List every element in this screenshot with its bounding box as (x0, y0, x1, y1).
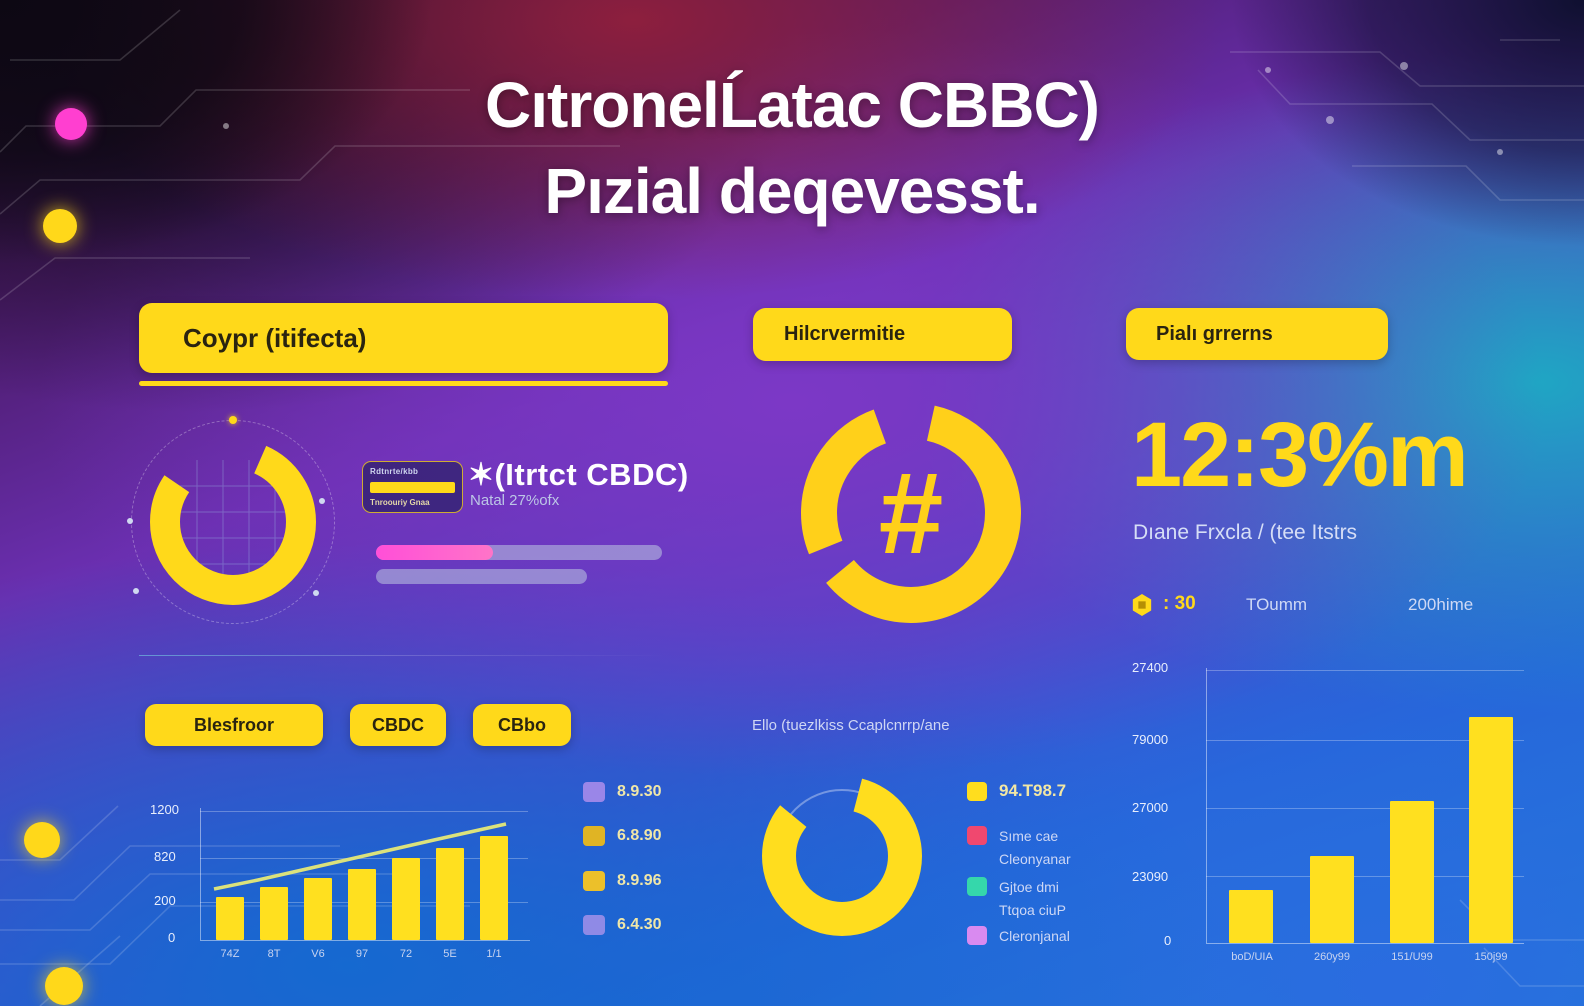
legend-label: 6.4.30 (617, 916, 661, 934)
legend-swatch (967, 926, 987, 945)
left-chart-legend-item[interactable]: 8.9.96 (583, 871, 661, 891)
page-title: CıtronelĹatac CBBC) Pızial deqevesst. (0, 62, 1584, 234)
right-chart-bar[interactable] (1229, 890, 1273, 943)
right-panel-metric-label-2: 200hime (1408, 595, 1473, 615)
tab-hilcrvermitie[interactable]: Hilcrvermitie (753, 308, 1012, 361)
mini-card-top-text: Rdtnrte/kbb (370, 467, 455, 476)
hash-icon: # (790, 392, 1032, 634)
hexagon-icon (1131, 593, 1153, 617)
right-panel-sub-label: Dıane Frxcla / (tee Itstrs (1133, 521, 1357, 545)
right-chart-xtick: boD/UIA (1219, 951, 1285, 963)
right-chart-ytick-0: 27400 (1132, 660, 1168, 675)
left-chart-legend-item[interactable]: 6.4.30 (583, 915, 661, 935)
left-chart-legend-item[interactable]: 8.9.30 (583, 782, 661, 802)
right-chart-x-axis (1206, 943, 1524, 944)
right-chart-xtick: 150j99 (1458, 951, 1524, 963)
right-chart-bar[interactable] (1310, 856, 1354, 943)
left-chart-ytick-1: 820 (154, 849, 176, 864)
accent-dot-yellow-bottom-b (45, 967, 83, 1005)
legend-label: 8.9.30 (617, 783, 661, 801)
right-chart-xtick: 260y99 (1299, 951, 1365, 963)
accent-dot-yellow-bottom-a (24, 822, 60, 858)
tab-active-underline (139, 381, 668, 386)
left-mini-card[interactable]: Rdtnrte/kbb Tnroouriy Gnaa (362, 461, 463, 513)
orbit-node-left (127, 518, 133, 524)
left-chart-gridline-1 (200, 811, 528, 812)
page-title-line-1: CıtronelĹatac CBBC) (0, 62, 1584, 148)
progress-bar-1-fill (376, 545, 493, 560)
left-chart-xtick: 74Z (208, 948, 252, 960)
left-chart-xtick: 5E (428, 948, 472, 960)
legend-swatch (967, 782, 987, 801)
left-bar-chart[interactable]: 1200 820 200 0 74Z 8T V6 97 72 5E 1/1 (150, 782, 550, 962)
legend-swatch (583, 915, 605, 935)
progress-bar-2[interactable] (376, 569, 587, 584)
left-chart-xtick: 1/1 (472, 948, 516, 960)
left-chart-xtick: 8T (252, 948, 296, 960)
right-chart-y-axis (1206, 668, 1207, 943)
legend-swatch (583, 826, 605, 846)
legend-label: 94.T98.7 (999, 781, 1066, 801)
left-ring-segment (165, 454, 301, 590)
right-panel-big-stat: 12:3%m (1131, 409, 1467, 501)
left-chart-xtick: 97 (340, 948, 384, 960)
middle-legend-item-primary[interactable]: 94.T98.7 (967, 781, 1066, 801)
middle-legend-sublabel: Ttqoa ciuP (999, 902, 1066, 918)
right-chart-ytick-4: 0 (1164, 933, 1171, 948)
right-chart-ytick-1: 79000 (1132, 732, 1168, 747)
right-panel-metric-value: : 30 (1163, 593, 1196, 615)
button-blesfroor[interactable]: Blesfroor (145, 704, 323, 746)
middle-legend-sublabel: Cleonyanar (999, 851, 1071, 867)
orbit-node-bottom-left (133, 588, 139, 594)
left-chart-bar[interactable] (260, 887, 288, 940)
left-chart-bar[interactable] (392, 858, 420, 940)
left-chart-xtick: V6 (296, 948, 340, 960)
left-chart-bar[interactable] (348, 869, 376, 940)
middle-panel-caption: Ello (tuezlkiss Ccaplcnrrp/ane (752, 717, 950, 734)
mini-card-bottom-text: Tnroouriy Gnaa (370, 498, 455, 507)
middle-hash-ring[interactable]: # (790, 392, 1032, 634)
legend-label: 8.9.96 (617, 872, 661, 890)
left-chart-x-axis (200, 940, 530, 941)
button-cbdc[interactable]: CBDC (350, 704, 446, 746)
left-chart-legend-item[interactable]: 6.8.90 (583, 826, 661, 846)
button-cbbo[interactable]: CBbo (473, 704, 571, 746)
right-chart-bar[interactable] (1390, 801, 1434, 943)
donut-main-segment (779, 793, 905, 919)
right-panel-metric-label-1: TOumm (1246, 595, 1307, 615)
middle-legend-item[interactable]: Gjtoe dmi (967, 877, 1059, 896)
left-chart-y-axis (200, 808, 201, 940)
right-chart-bar[interactable] (1469, 717, 1513, 943)
middle-donut-chart[interactable] (752, 766, 932, 946)
left-chart-ytick-0: 1200 (150, 802, 179, 817)
right-bar-chart[interactable]: 27400 79000 27000 23090 0 boD/UIA 260y99… (1124, 648, 1554, 968)
left-chart-xtick: 72 (384, 948, 428, 960)
right-chart-ytick-2: 27000 (1132, 800, 1168, 815)
legend-label: Sıme cae (999, 828, 1058, 844)
legend-swatch (583, 871, 605, 891)
left-donut-ring[interactable] (143, 432, 323, 612)
right-chart-ytick-3: 23090 (1132, 869, 1168, 884)
legend-label: 6.8.90 (617, 827, 661, 845)
tab-piali-grrerns[interactable]: Pialı grrerns (1126, 308, 1388, 360)
legend-swatch (583, 782, 605, 802)
middle-legend-item[interactable]: Sıme cae (967, 826, 1058, 845)
legend-label: Gjtoe dmi (999, 879, 1059, 895)
progress-bar-1[interactable] (376, 545, 662, 560)
right-chart-xtick: 151/U99 (1379, 951, 1445, 963)
dashboard-canvas: CıtronelĹatac CBBC) Pızial deqevesst. Co… (0, 0, 1584, 1006)
legend-label: Cleronjanal (999, 928, 1070, 944)
left-chart-bar[interactable] (480, 836, 508, 940)
left-chart-gridline-2 (200, 858, 528, 859)
left-chart-ytick-3: 0 (168, 930, 175, 945)
page-title-line-2: Pızial deqevesst. (0, 148, 1584, 234)
legend-swatch (967, 826, 987, 845)
left-chart-bar[interactable] (216, 897, 244, 940)
legend-swatch (967, 877, 987, 896)
middle-legend-item[interactable]: Cleronjanal (967, 926, 1070, 945)
left-panel-subheading: Natal 27%ofx (470, 492, 559, 509)
left-chart-ytick-2: 200 (154, 893, 176, 908)
left-chart-bar[interactable] (436, 848, 464, 940)
orbit-node-top (229, 416, 237, 424)
tab-coypr[interactable]: Coypr (itifecta) (139, 303, 668, 373)
left-chart-bar[interactable] (304, 878, 332, 940)
mini-card-accent-bar (370, 482, 455, 493)
left-panel-heading: ✶(Itrtct CBDC) (468, 457, 689, 493)
right-chart-gridline-1 (1206, 670, 1524, 671)
left-panel-divider (139, 655, 666, 656)
